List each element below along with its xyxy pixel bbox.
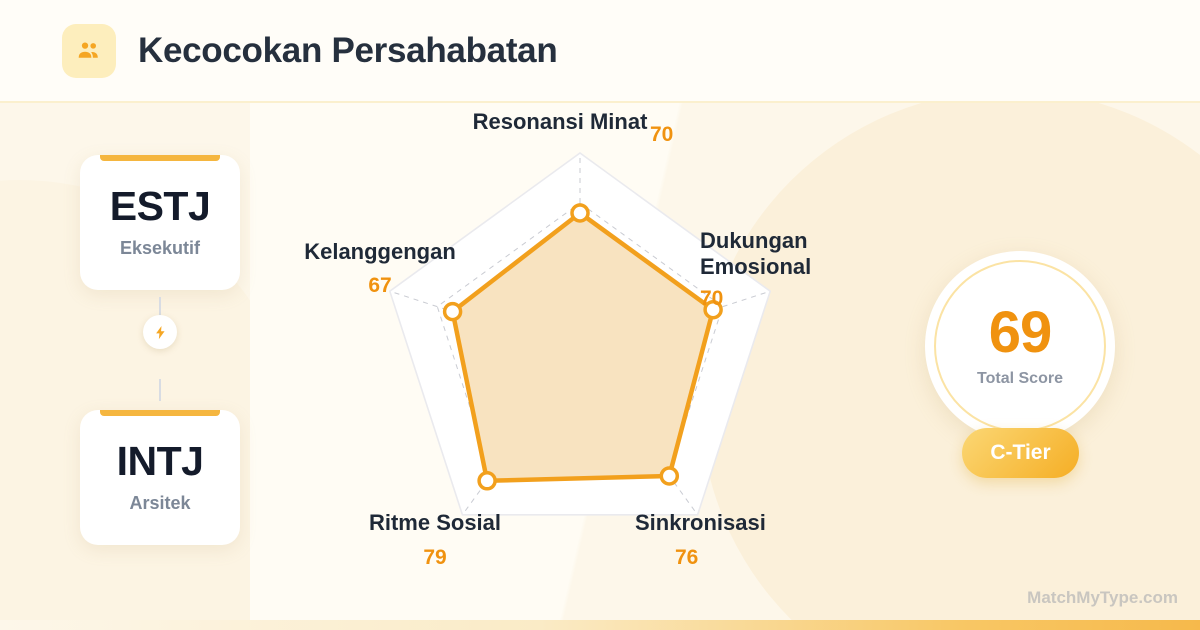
- radar-axis-label-1: Dukungan Emosional 70: [700, 228, 900, 311]
- type-card-b-code: INTJ: [117, 441, 204, 482]
- radar-axis-label-2: Sinkronisasi 76: [635, 510, 835, 570]
- radar-chart: Resonansi Minat 70 Dukungan Emosional 70…: [300, 103, 870, 630]
- page-header: Kecocokan Persahabatan: [0, 0, 1200, 103]
- radar-point-3: [479, 473, 495, 489]
- type-connector: [143, 297, 177, 401]
- total-score-circle: 69 Total Score: [925, 251, 1115, 441]
- type-card-a[interactable]: ESTJ Eksekutif: [80, 155, 240, 290]
- radar-axis-name-4: Kelanggengan: [265, 239, 495, 265]
- radar-point-0: [572, 205, 588, 221]
- radar-axis-label-4: Kelanggengan 67: [265, 239, 495, 298]
- bottom-accent-bar: [0, 620, 1200, 630]
- radar-axis-name-1: Dukungan Emosional: [700, 228, 900, 279]
- main-stage: ESTJ Eksekutif INTJ Arsitek Resonansi Mi…: [0, 103, 1200, 630]
- page-title: Kecocokan Persahabatan: [138, 31, 557, 71]
- radar-axis-name-2: Sinkronisasi: [635, 510, 835, 536]
- total-score-label: Total Score: [977, 370, 1063, 388]
- radar-axis-name-0: Resonansi Minat: [473, 109, 648, 134]
- type-card-b[interactable]: INTJ Arsitek: [80, 410, 240, 545]
- type-card-a-code: ESTJ: [110, 186, 211, 227]
- radar-axis-value-1: 70: [700, 287, 900, 311]
- radar-axis-value-4: 67: [265, 274, 495, 298]
- type-card-a-name: Eksekutif: [120, 238, 200, 259]
- radar-axis-value-3: 79: [335, 546, 535, 570]
- radar-axis-label-3: Ritme Sosial 79: [335, 510, 535, 570]
- radar-point-4: [445, 304, 461, 320]
- lightning-bolt-icon: [143, 315, 177, 349]
- radar-point-2: [661, 468, 677, 484]
- tier-badge[interactable]: C-Tier: [962, 428, 1079, 478]
- site-watermark: MatchMyType.com: [1027, 588, 1178, 608]
- radar-axis-value-0: 70: [650, 123, 673, 147]
- radar-axis-value-2: 76: [675, 546, 835, 570]
- users-icon: [62, 24, 116, 78]
- radar-axis-name-3: Ritme Sosial: [335, 510, 535, 536]
- total-score-value: 69: [989, 304, 1052, 362]
- type-card-b-name: Arsitek: [129, 493, 190, 514]
- radar-axis-label-0: Resonansi Minat 70: [450, 109, 670, 135]
- connector-line-bottom: [159, 379, 161, 401]
